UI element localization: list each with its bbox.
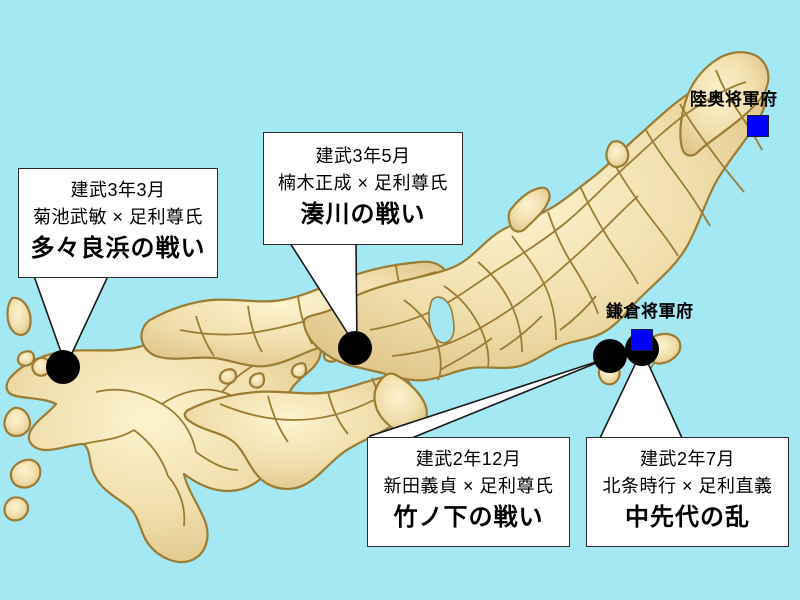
callout-name-nakasendai: 中先代の乱: [625, 501, 750, 536]
callout-combatants-nakasendai: 北条時行 × 足利直義: [602, 473, 772, 500]
battle-dot-minatogawa[interactable]: [338, 331, 372, 365]
callout-name-takenoshita: 竹ノ下の戦い: [394, 501, 544, 536]
callout-era-takenoshita: 建武2年12月: [416, 446, 522, 473]
hq-marker-kamakura[interactable]: [631, 329, 653, 351]
callout-nakasendai[interactable]: 建武2年7月 北条時行 × 足利直義 中先代の乱: [586, 437, 789, 547]
callout-combatants-tatarahama: 菊池武敏 × 足利尊氏: [33, 204, 203, 231]
battle-dot-tatarahama[interactable]: [46, 350, 80, 384]
callout-combatants-takenoshita: 新田義貞 × 足利尊氏: [383, 473, 553, 500]
callout-name-minatogawa: 湊川の戦い: [301, 198, 426, 233]
callout-tatarahama[interactable]: 建武3年3月 菊池武敏 × 足利尊氏 多々良浜の戦い: [18, 168, 218, 278]
callout-era-minatogawa: 建武3年5月: [315, 143, 410, 170]
callout-minatogawa[interactable]: 建武3年5月 楠木正成 × 足利尊氏 湊川の戦い: [263, 132, 463, 245]
callout-combatants-minatogawa: 楠木正成 × 足利尊氏: [278, 170, 448, 197]
callout-takenoshita[interactable]: 建武2年12月 新田義貞 × 足利尊氏 竹ノ下の戦い: [367, 437, 570, 547]
map-canvas: 陸奥将軍府 鎌倉将軍府 建武3年3月 菊池武敏 × 足利尊氏 多々良浜の戦い 建…: [0, 0, 800, 600]
callout-name-tatarahama: 多々良浜の戦い: [31, 232, 206, 267]
hq-label-kamakura: 鎌倉将軍府: [606, 297, 694, 322]
callout-era-nakasendai: 建武2年7月: [640, 446, 735, 473]
hq-marker-mutsu[interactable]: [747, 115, 769, 137]
battle-dot-takenoshita[interactable]: [593, 339, 627, 373]
callout-era-tatarahama: 建武3年3月: [70, 177, 165, 204]
hq-label-mutsu: 陸奥将軍府: [690, 85, 778, 110]
